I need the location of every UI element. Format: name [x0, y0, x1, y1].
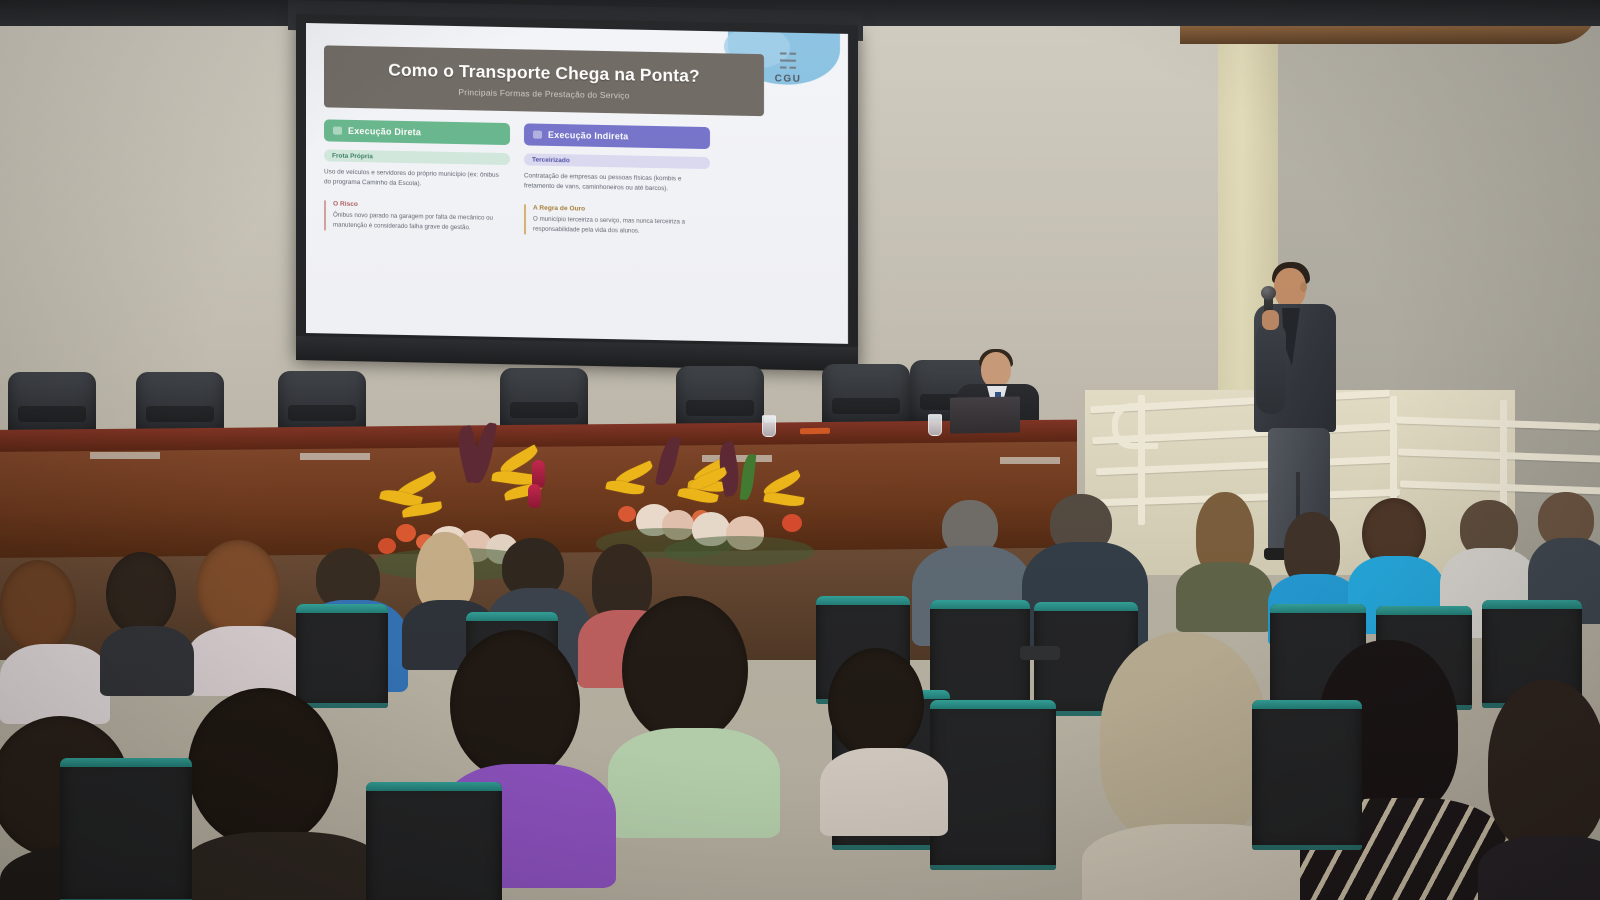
slide-header-bar: Como o Transporte Chega na Ponta? Princi…: [324, 45, 764, 116]
panelist-head: [981, 352, 1011, 388]
heliconia-flower: [763, 491, 804, 509]
water-glass: [762, 415, 776, 437]
audience-hair: [1488, 680, 1600, 850]
audience-member: [1176, 492, 1272, 622]
audience-shoulders: [608, 728, 780, 838]
cgu-logo: ☵ CGU: [758, 50, 818, 85]
water-glass: [928, 414, 942, 436]
auditorium-seat[interactable]: [1252, 700, 1362, 850]
card-header-label-direta: Execução Direta: [348, 126, 421, 137]
card-execucao-indireta: Execução Indireta Terceirizado Contrataç…: [524, 123, 710, 237]
audience-hair: [828, 648, 924, 760]
red-ginger-flower: [528, 484, 541, 508]
green-heliconia: [740, 453, 757, 500]
card-pill-indireta: Terceirizado: [524, 153, 710, 169]
floral-arrangement: [664, 448, 824, 578]
cgu-logo-label: CGU: [758, 73, 818, 85]
audience-hair: [188, 688, 338, 848]
audience-member: [188, 540, 298, 690]
audience-hair: [0, 560, 76, 652]
slide-title: Como o Transporte Chega na Ponta?: [388, 60, 700, 87]
auditorium-seat[interactable]: [930, 700, 1056, 870]
card-header-direta: Execução Direta: [324, 119, 510, 145]
audience-shoulders: [0, 644, 110, 724]
audience-shoulders: [1478, 836, 1600, 900]
slide-cards: Execução Direta Frota Própria Uso de veí…: [324, 119, 826, 240]
audience-hair: [106, 552, 176, 636]
table-panel-gap: [90, 452, 160, 459]
card-note-direta: O Risco Ônibus novo parado na garagem po…: [324, 200, 510, 234]
audience-member: [608, 596, 768, 826]
card-note-title-indireta: A Regra de Ouro: [533, 204, 710, 215]
green-foliage: [664, 536, 814, 566]
handshake-icon: [533, 131, 542, 139]
table-panel-gap: [300, 453, 370, 460]
auditorium-seat[interactable]: [60, 758, 192, 900]
heliconia-flower: [605, 478, 644, 497]
card-note-text-indireta: O município terceiriza o serviço, mas nu…: [533, 214, 710, 237]
laptop[interactable]: [950, 396, 1020, 433]
bus-icon: [333, 127, 342, 135]
card-pill-direta: Frota Própria: [324, 149, 510, 165]
speaker-ear: [1300, 282, 1307, 292]
audience-member: [180, 688, 370, 900]
orange-bloom: [782, 514, 802, 532]
audience-member: [820, 648, 940, 828]
card-body-indireta: Terceirizado Contratação de empresas ou …: [524, 153, 710, 237]
microphone-icon: [1261, 286, 1276, 300]
audience-shoulders: [1176, 562, 1272, 632]
table-panel-gap: [1000, 457, 1060, 464]
orange-desk-item: [800, 428, 830, 435]
card-body-direta: Frota Própria Uso de veículos e servidor…: [324, 149, 510, 233]
card-note-text-direta: Ônibus novo parado na garagem por falta …: [333, 210, 510, 233]
card-execucao-direta: Execução Direta Frota Própria Uso de veí…: [324, 119, 510, 233]
card-description-indireta: Contratação de empresas ou pessoas físic…: [524, 171, 710, 195]
audience-hair: [450, 630, 580, 780]
speaker-hand: [1262, 310, 1279, 330]
audience-hair: [1100, 632, 1268, 842]
railing-curved-end: [1112, 403, 1158, 449]
slide-subtitle: Principais Formas de Prestação do Serviç…: [458, 87, 629, 100]
audience-member: [100, 552, 190, 692]
speaker-arm: [1256, 322, 1286, 414]
cgu-crest-icon: ☵: [758, 50, 818, 73]
audience-hair: [196, 540, 280, 636]
card-header-label-indireta: Execução Indireta: [548, 130, 628, 142]
audience-member: [0, 560, 104, 720]
card-description-direta: Uso de veículos e servidores do próprio …: [324, 167, 510, 191]
audience-shoulders: [100, 626, 194, 696]
audience-shoulders: [820, 748, 948, 836]
presentation-slide: ☵ CGU Como o Transporte Chega na Ponta? …: [306, 23, 848, 344]
auditorium-scene: ☵ CGU Como o Transporte Chega na Ponta? …: [0, 0, 1600, 900]
card-header-indireta: Execução Indireta: [524, 123, 710, 149]
seat-armrest: [1020, 646, 1060, 660]
card-note-title-direta: O Risco: [333, 200, 510, 211]
audience-member: [1478, 680, 1600, 900]
card-note-indireta: A Regra de Ouro O município terceiriza o…: [524, 204, 710, 238]
audience-shoulders: [188, 626, 304, 696]
audience-shoulders: [180, 832, 386, 900]
audience-hair: [622, 596, 748, 744]
auditorium-seat[interactable]: [366, 782, 502, 900]
orange-bloom: [618, 506, 636, 522]
